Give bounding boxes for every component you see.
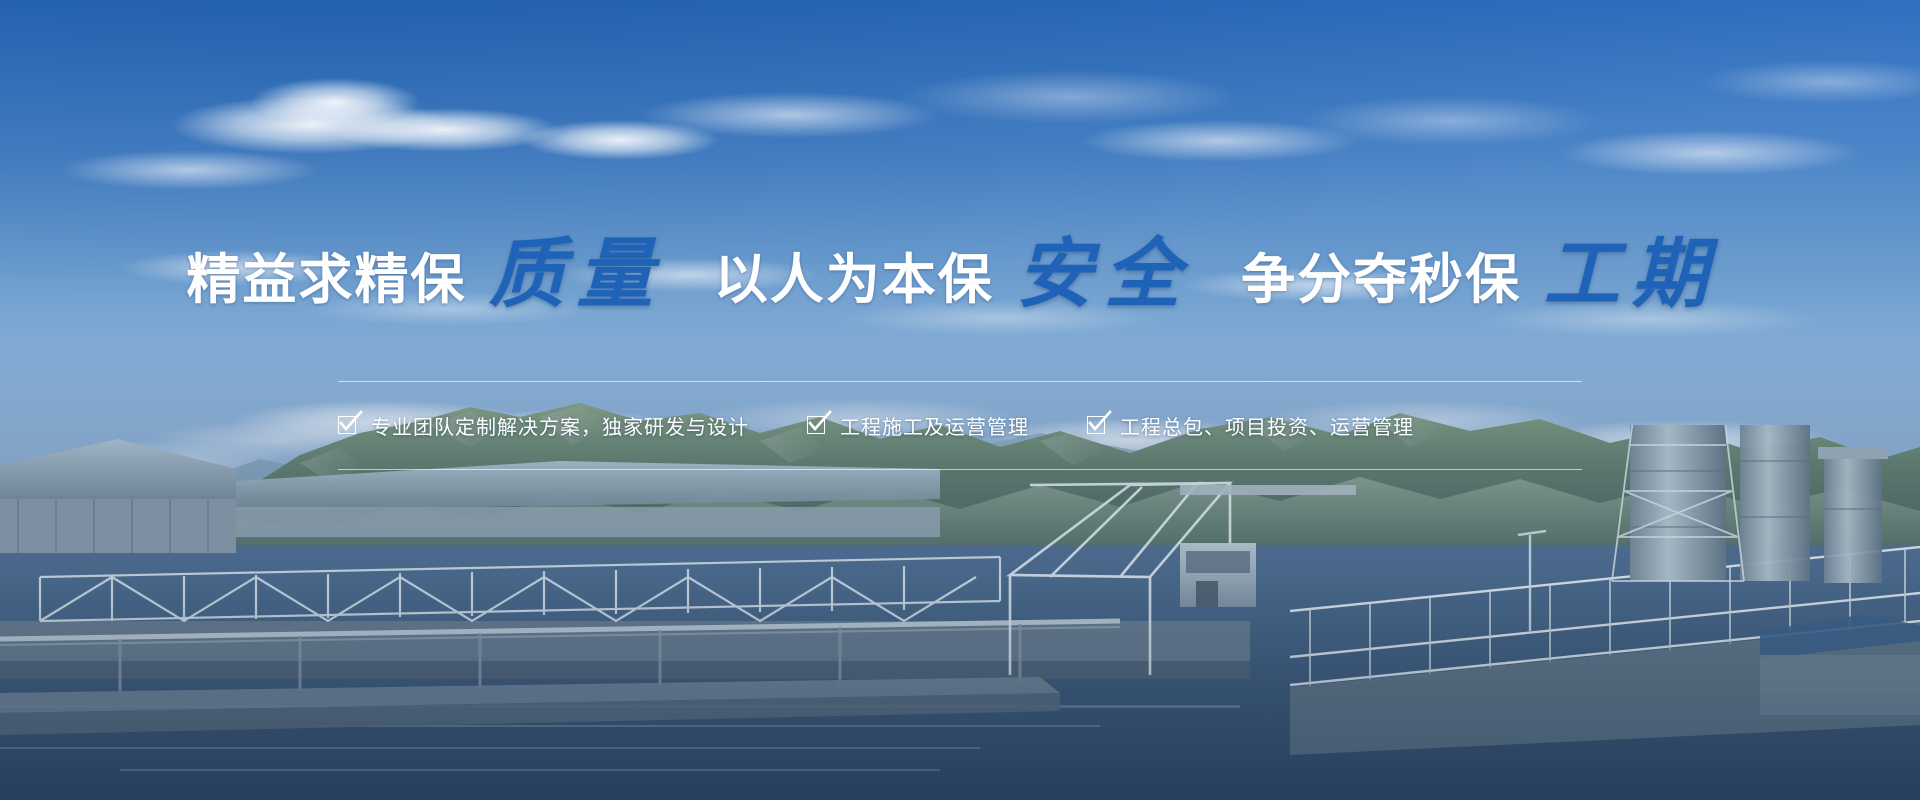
- divider-bottom: [338, 469, 1582, 470]
- feature-item-3[interactable]: 工程总包、项目投资、运营管理: [1087, 411, 1414, 440]
- hero-banner: 精益求精保 质量 以人为本保 安全 争分夺秒保 工期 专业团队定制解决方案，独家…: [0, 0, 1920, 800]
- checkbox-checked-icon: [338, 416, 357, 435]
- feature-list: 专业团队定制解决方案，独家研发与设计 工程施工及运营管理: [338, 381, 1582, 469]
- feature-label: 工程施工及运营管理: [840, 411, 1029, 440]
- checkbox-checked-icon: [1087, 416, 1106, 435]
- headline-accent-schedule: 工期: [1526, 229, 1734, 318]
- headline-segment-2: 以人为本保: [714, 250, 994, 310]
- headline-accent-safety: 安全: [998, 229, 1206, 318]
- feature-label: 工程总包、项目投资、运营管理: [1120, 411, 1414, 440]
- headline-accent-quality: 质量: [471, 229, 679, 318]
- feature-label: 专业团队定制解决方案，独家研发与设计: [371, 411, 749, 440]
- feature-item-2[interactable]: 工程施工及运营管理: [807, 411, 1029, 440]
- feature-item-1[interactable]: 专业团队定制解决方案，独家研发与设计: [338, 411, 749, 440]
- headline-segment-1: 精益求精保: [186, 250, 466, 310]
- banner-content: 精益求精保 质量 以人为本保 安全 争分夺秒保 工期 专业团队定制解决方案，独家…: [0, 0, 1920, 800]
- headline-segment-3: 争分夺秒保: [1241, 250, 1521, 310]
- checkbox-checked-icon: [807, 416, 826, 435]
- headline: 精益求精保 质量 以人为本保 安全 争分夺秒保 工期: [0, 242, 1920, 318]
